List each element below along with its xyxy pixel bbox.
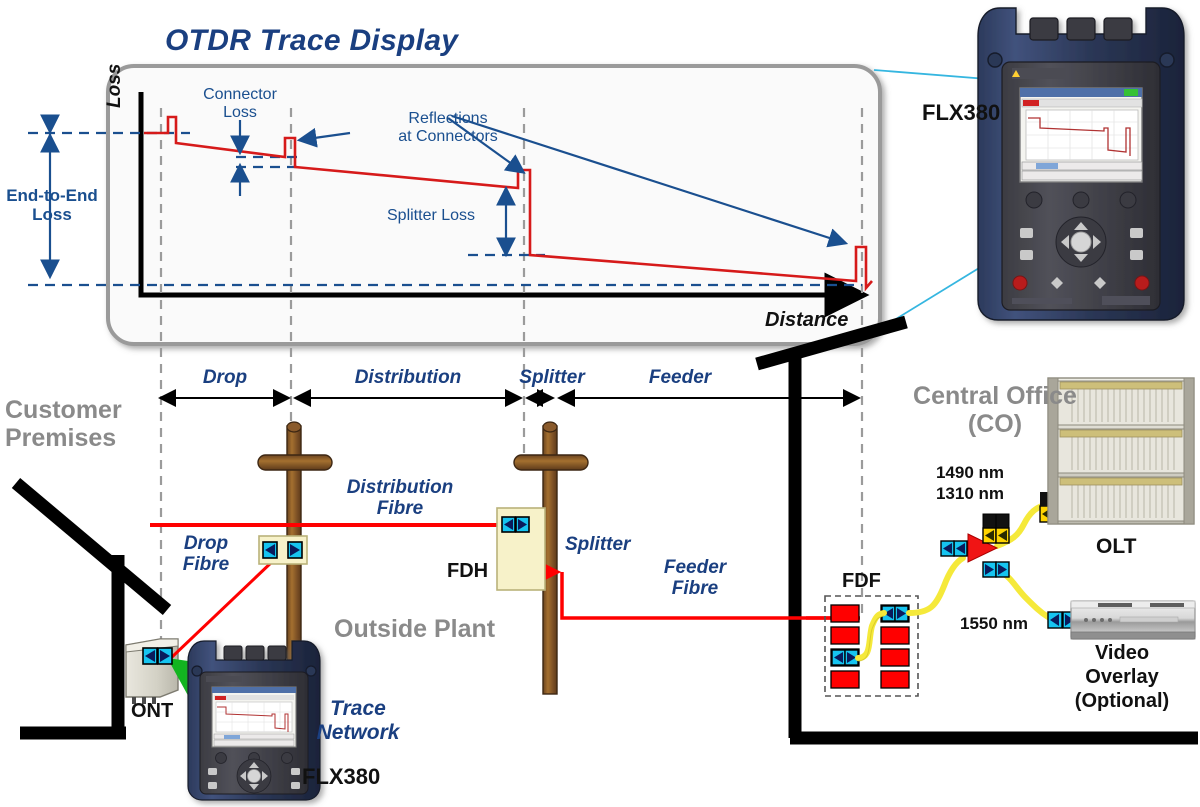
label-wavelength-downstream: 1490 nm 1310 nm [910, 462, 1030, 505]
zone-central-office: Central Office (CO) [870, 382, 1120, 438]
label-video-overlay: Video Overlay (Optional) [1042, 641, 1200, 713]
label-splitter: Splitter [565, 534, 630, 555]
label-wavelength-video: 1550 nm [960, 614, 1028, 633]
label-ont: ONT [131, 700, 173, 722]
flx380-tester-bottom [188, 641, 320, 800]
fdh-connector-pair [502, 517, 529, 532]
pole-connector-enclosure [259, 536, 307, 564]
span-label-distribution: Distribution [296, 367, 520, 388]
coupler-input-connector [941, 541, 967, 556]
zone-customer-premises: Customer Premises [5, 396, 122, 452]
span-label-splitter: Splitter [492, 367, 612, 388]
ont-connector-pair [143, 648, 172, 664]
flx380-tester-top [978, 8, 1184, 320]
label-flx380-bottom: FLX380 [302, 765, 380, 790]
annotation-reflections: Reflections at Connectors [355, 110, 541, 146]
label-feeder-fibre: Feeder Fibre [640, 557, 750, 600]
page-title: OTDR Trace Display [165, 24, 458, 58]
annotation-splitter-loss: Splitter Loss [387, 207, 475, 225]
span-label-feeder: Feeder [610, 367, 750, 388]
label-trace-network: Trace Network [302, 697, 414, 744]
label-flx380-top: FLX380 [922, 101, 1000, 126]
label-olt: OLT [1096, 535, 1136, 559]
label-fdf: FDF [842, 570, 881, 592]
video-overlay-device [1071, 601, 1195, 639]
fdf-connector-a [832, 650, 858, 665]
annotation-connector-loss: Connector Loss [180, 86, 300, 122]
label-drop-fibre: Drop Fibre [165, 533, 247, 576]
annotation-end-to-end-loss: End-to-End Loss [0, 186, 104, 224]
x-axis-label: Distance [765, 309, 848, 331]
y-axis-label: Loss [104, 64, 125, 108]
zone-outside-plant: Outside Plant [334, 615, 495, 643]
label-fdh: FDH [447, 560, 488, 582]
diagram-root: OTDR Trace Display Loss Distance End-to-… [0, 0, 1200, 807]
label-distribution-fibre: Distribution Fibre [330, 477, 470, 520]
span-label-drop: Drop [161, 367, 289, 388]
